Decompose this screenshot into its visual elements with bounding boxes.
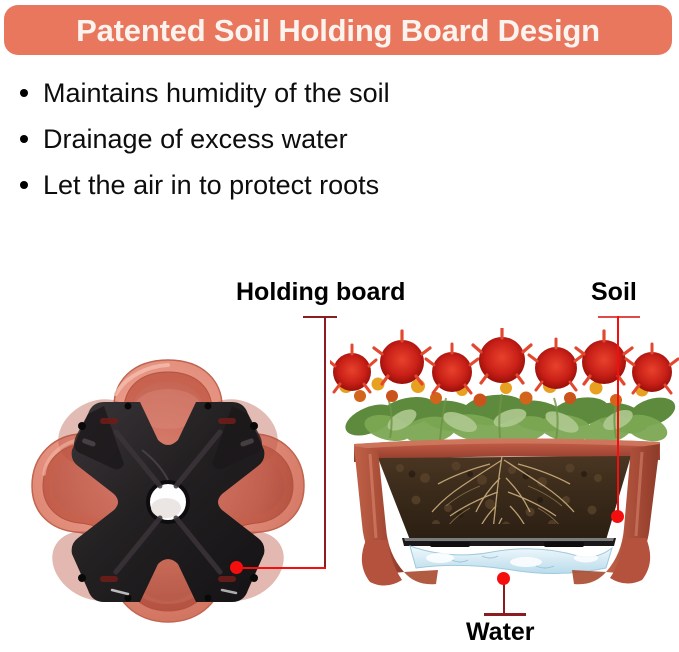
feature-text: Drainage of excess water [43, 124, 348, 154]
bullet-point-icon [20, 135, 28, 143]
water-marker-dot [497, 572, 510, 585]
feature-text: Let the air in to protect roots [43, 170, 379, 200]
water-leader-cap [484, 613, 526, 616]
list-item: Maintains humidity of the soil [16, 70, 556, 116]
feature-list: Maintains humidity of the soil Drainage … [16, 70, 556, 208]
pot-bottom-illustration [8, 354, 328, 652]
plant-foliage [330, 328, 679, 449]
soil-marker-dot [611, 510, 624, 523]
soil-leader-cap [598, 316, 640, 318]
water-reservoir [410, 546, 612, 574]
water-leader-stem [503, 580, 505, 614]
callout-label-water: Water [466, 620, 535, 645]
holding-board-leader-arm [236, 567, 326, 569]
feature-text: Maintains humidity of the soil [43, 78, 390, 108]
holding-board-leader-cap [303, 316, 337, 318]
pot-section-illustration [330, 328, 679, 588]
bullet-point-icon [20, 89, 28, 97]
header-banner: Patented Soil Holding Board Design [4, 5, 672, 55]
list-item: Drainage of excess water [16, 116, 556, 162]
soil-leader-stem [617, 316, 619, 518]
product-diagram: Holding board Soil Water [0, 258, 679, 652]
callout-label-holding-board: Holding board [236, 280, 405, 305]
bullet-point-icon [20, 181, 28, 189]
list-item: Let the air in to protect roots [16, 162, 556, 208]
holding-board-marker-dot [230, 561, 243, 574]
page-title: Patented Soil Holding Board Design [76, 15, 600, 46]
holding-board-leader-stem [324, 316, 326, 568]
holding-board-strip [402, 538, 616, 547]
callout-label-soil: Soil [591, 280, 637, 305]
